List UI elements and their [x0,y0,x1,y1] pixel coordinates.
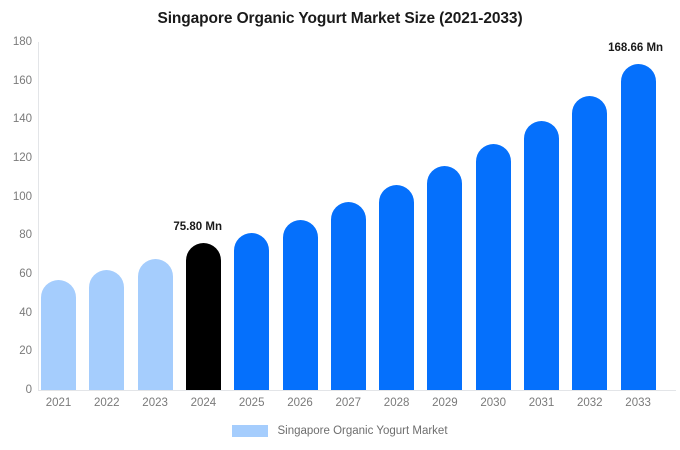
bar[interactable] [572,96,607,390]
x-axis-tick-label: 2029 [421,397,469,409]
y-axis-tick-label: 160 [0,75,32,87]
bar[interactable] [186,243,221,390]
y-axis-line [38,42,39,391]
x-axis-tick-label: 2027 [324,397,372,409]
x-axis-tick-label: 2023 [131,397,179,409]
y-axis-tick-label: 40 [0,307,32,319]
x-axis-tick-label: 2022 [83,397,131,409]
bar[interactable] [89,270,124,390]
chart-legend: Singapore Organic Yogurt Market [0,425,680,437]
bar[interactable] [524,121,559,390]
y-axis-tick-label: 60 [0,268,32,280]
y-axis-tick-label: 80 [0,229,32,241]
x-axis-tick-label: 2025 [228,397,276,409]
bar[interactable] [379,185,414,390]
y-axis-tick-label: 120 [0,152,32,164]
bar-chart: Singapore Organic Yogurt Market Size (20… [0,0,680,450]
x-axis-tick-label: 2032 [566,397,614,409]
x-axis-tick-label: 2033 [614,397,662,409]
x-axis-tick-label: 2031 [518,397,566,409]
y-axis-tick-label: 0 [0,384,32,396]
bar[interactable] [41,280,76,390]
legend-label: Singapore Organic Yogurt Market [277,425,447,437]
y-axis-tick-label: 20 [0,345,32,357]
y-axis-tick-label: 180 [0,36,32,48]
y-axis-tick-label: 140 [0,113,32,125]
x-axis-tick-label: 2024 [179,397,227,409]
y-axis-tick-label: 100 [0,191,32,203]
bar[interactable] [476,144,511,390]
bar[interactable] [283,220,318,390]
x-axis-tick-label: 2030 [469,397,517,409]
bar-value-label: 168.66 Mn [608,42,663,54]
x-axis-line [38,390,676,391]
bar[interactable] [427,166,462,390]
bar[interactable] [234,233,269,390]
bar[interactable] [331,202,366,390]
bar[interactable] [621,64,656,390]
legend-swatch-icon [232,425,268,437]
x-axis-tick-label: 2021 [35,397,83,409]
bar-value-label: 75.80 Mn [173,221,222,233]
bar[interactable] [138,259,173,390]
x-axis-tick-label: 2028 [373,397,421,409]
x-axis-tick-label: 2026 [276,397,324,409]
